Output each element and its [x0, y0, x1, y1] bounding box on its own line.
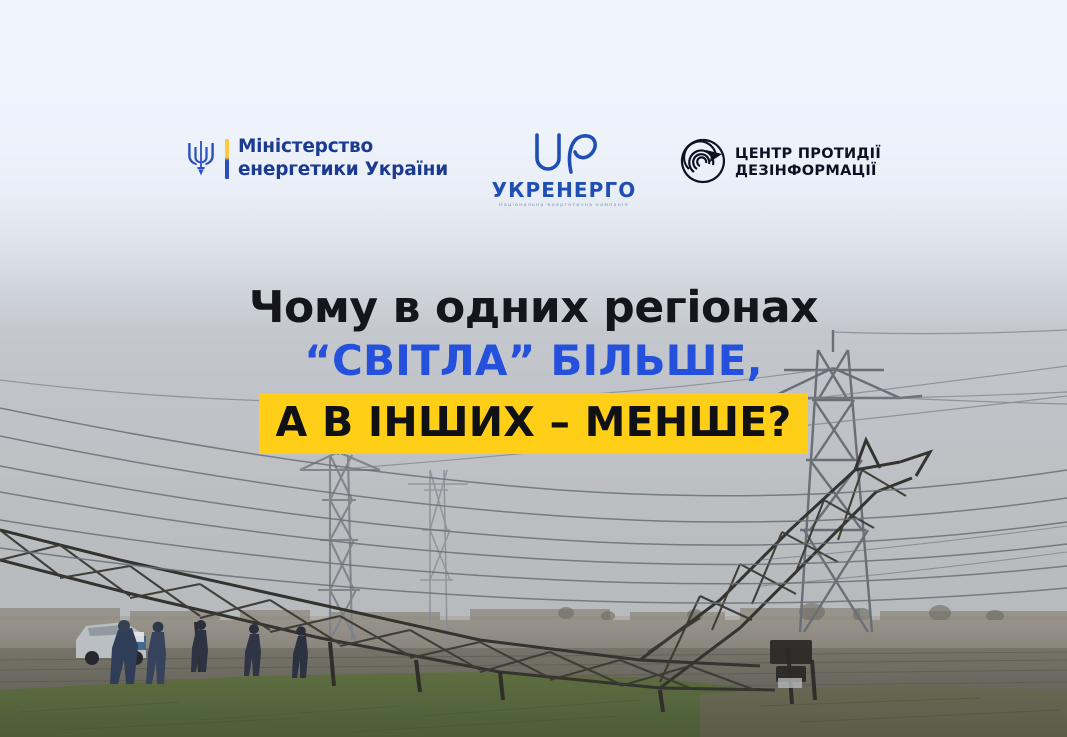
logo-ministry-of-energy: Міністерство енергетики України: [186, 128, 448, 190]
headline-line-1: Чому в одних регіонах: [0, 286, 1067, 330]
poster: Міністерство енергетики України УКРЕНЕРГ…: [0, 0, 1067, 737]
logo-ukrenergo: УКРЕНЕРГО Національна енергетична компан…: [500, 128, 628, 209]
flag-divider: [225, 139, 229, 179]
ccd-line-1: ЦЕНТР ПРОТИДІЇ: [735, 146, 881, 163]
headline-line-3-wrap: А В ІНШИХ – МЕНШЕ?: [0, 393, 1067, 454]
ministry-line-1: Міністерство: [238, 136, 448, 159]
ministry-label: Міністерство енергетики України: [238, 136, 448, 181]
ccd-label: ЦЕНТР ПРОТИДІЇ ДЕЗІНФОРМАЦІЇ: [735, 146, 881, 180]
ministry-line-2: енергетики України: [238, 159, 448, 182]
ukrenergo-subtitle: Національна енергетична компанія: [499, 204, 629, 209]
headline-line-3-highlight: А В ІНШИХ – МЕНШЕ?: [259, 393, 809, 454]
logo-row: Міністерство енергетики України УКРЕНЕРГ…: [0, 128, 1067, 209]
ukrenergo-mark-icon: [527, 132, 601, 179]
ccd-line-2: ДЕЗІНФОРМАЦІЇ: [735, 163, 881, 180]
ukrenergo-name: УКРЕНЕРГО: [492, 180, 637, 200]
headline-block: Чому в одних регіонах “СВІТЛА” БІЛЬШЕ, А…: [0, 286, 1067, 454]
headline-line-2: “СВІТЛА” БІЛЬШЕ,: [0, 340, 1067, 382]
ukraine-trident-icon: [186, 138, 216, 181]
labyrinth-arrow-icon: [680, 138, 726, 189]
logo-center-countering-disinformation: ЦЕНТР ПРОТИДІЇ ДЕЗІНФОРМАЦІЇ: [680, 128, 881, 194]
